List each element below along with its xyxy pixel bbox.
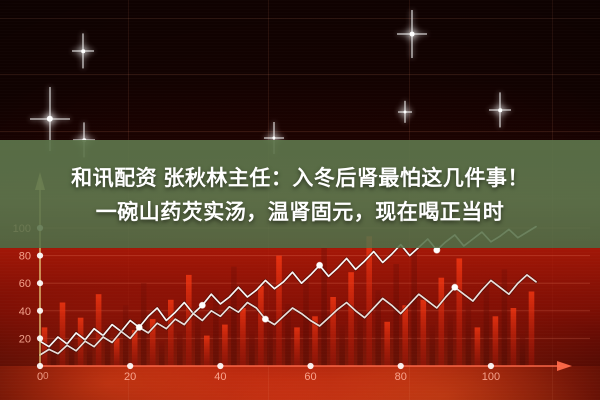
title-line-1: 和讯配资 张秋林主任：入冬后肾最怕这几件事！ xyxy=(71,162,529,192)
title-line-2: 一碗山药芡实汤，温肾固元，现在喝正当时 xyxy=(96,196,505,226)
page-title: 和讯配资 张秋林主任：入冬后肾最怕这几件事！ 一碗山药芡实汤，温肾固元，现在喝正… xyxy=(0,140,600,248)
banner-image: 020406080100204060801000 和讯配资 张秋林主任：入冬后肾… xyxy=(0,0,600,400)
